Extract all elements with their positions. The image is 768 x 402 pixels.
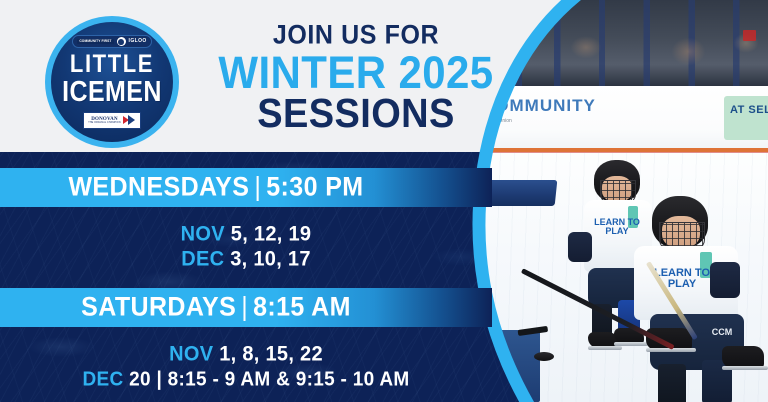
headline-sessions: SESSIONS (196, 92, 516, 135)
schedule-bar-wednesdays: WEDNESDAYS|5:30 PM (0, 168, 492, 207)
date-row: NOV 5, 12, 19 (0, 221, 492, 247)
player-foreground: LEARN TO PLAY CCM (626, 196, 766, 402)
schedule-bar-wednesdays-label: WEDNESDAYS|5:30 PM (68, 174, 423, 201)
saturdays-separator: | (236, 294, 253, 321)
schedule-dates-wednesdays: NOV 5, 12, 19 DEC 3, 10, 17 (0, 222, 492, 272)
logo-inner-disc: COMMUNITY FIRST IGLOO LITTLE ICEMEN DONO… (51, 22, 173, 142)
exit-sign-icon (743, 30, 756, 41)
saturdays-day: SATURDAYS (81, 292, 236, 322)
saturdays-time: 8:15 AM (253, 292, 351, 322)
player-glove (568, 232, 592, 262)
schedule-bar-saturdays-label: SATURDAYS|8:15 AM (81, 294, 411, 321)
skate-blade (722, 366, 768, 370)
date-days: 20 | 8:15 - 9 AM & 9:15 - 10 AM (129, 368, 409, 390)
date-days: 5, 12, 19 (231, 222, 312, 245)
date-month: NOV (169, 342, 213, 365)
headline-join: JOIN US FOR (196, 21, 516, 50)
schedule-dates-saturdays: NOV 1, 8, 15, 22 DEC 20 | 8:15 - 9 AM & … (0, 342, 492, 392)
date-days: 3, 10, 17 (230, 247, 311, 270)
logo-sponsor-strip: COMMUNITY FIRST IGLOO (72, 35, 151, 48)
flyer-canvas: Oaks COMMUNITY Credit Union AT SELF (0, 0, 768, 402)
date-month: DEC (181, 247, 224, 270)
schedule-bar-saturdays: SATURDAYS|8:15 AM (0, 288, 492, 327)
rink-ad-selfstorage: AT SELF (724, 96, 768, 140)
headline-season: WINTER 2025 (196, 49, 516, 97)
donovan-tagline: THE ORIGINAL CHAMPION (88, 122, 120, 124)
sponsor-community-first: COMMUNITY FIRST (77, 39, 113, 45)
date-row: DEC 20 | 8:15 - 9 AM & 9:15 - 10 AM (0, 366, 492, 392)
shield-icon (117, 37, 126, 46)
date-row: NOV 1, 8, 15, 22 (0, 341, 492, 367)
date-days: 1, 8, 15, 22 (219, 342, 323, 365)
date-row: DEC 3, 10, 17 (0, 246, 492, 272)
little-icemen-logo: COMMUNITY FIRST IGLOO LITTLE ICEMEN DONO… (45, 16, 179, 148)
skate-blade (588, 346, 622, 350)
wednesdays-time: 5:30 PM (266, 172, 363, 202)
wednesdays-separator: | (249, 174, 266, 201)
player-sock (658, 364, 686, 402)
logo-word-little: LITTLE (70, 52, 154, 77)
donovan-text: DONOVAN THE ORIGINAL CHAMPION (88, 117, 120, 124)
wednesdays-day: WEDNESDAYS (68, 172, 249, 202)
player-glove (710, 262, 740, 298)
logo-partner-donovan: DONOVAN THE ORIGINAL CHAMPION (83, 112, 141, 129)
logo-word-icemen: ICEMEN (62, 78, 162, 107)
page-title: JOIN US FOR WINTER 2025 SESSIONS (196, 22, 516, 134)
date-month: DEC (83, 368, 124, 390)
brand-ccm-text: CCM (702, 328, 742, 337)
sponsor-igloo: IGLOO (129, 39, 147, 44)
hockey-puck (534, 352, 554, 361)
player-skate (722, 346, 764, 368)
date-month: NOV (181, 222, 225, 245)
donovan-chevron-icon (123, 115, 136, 126)
rink-ad-selfstorage-text: AT SELF (730, 104, 768, 116)
